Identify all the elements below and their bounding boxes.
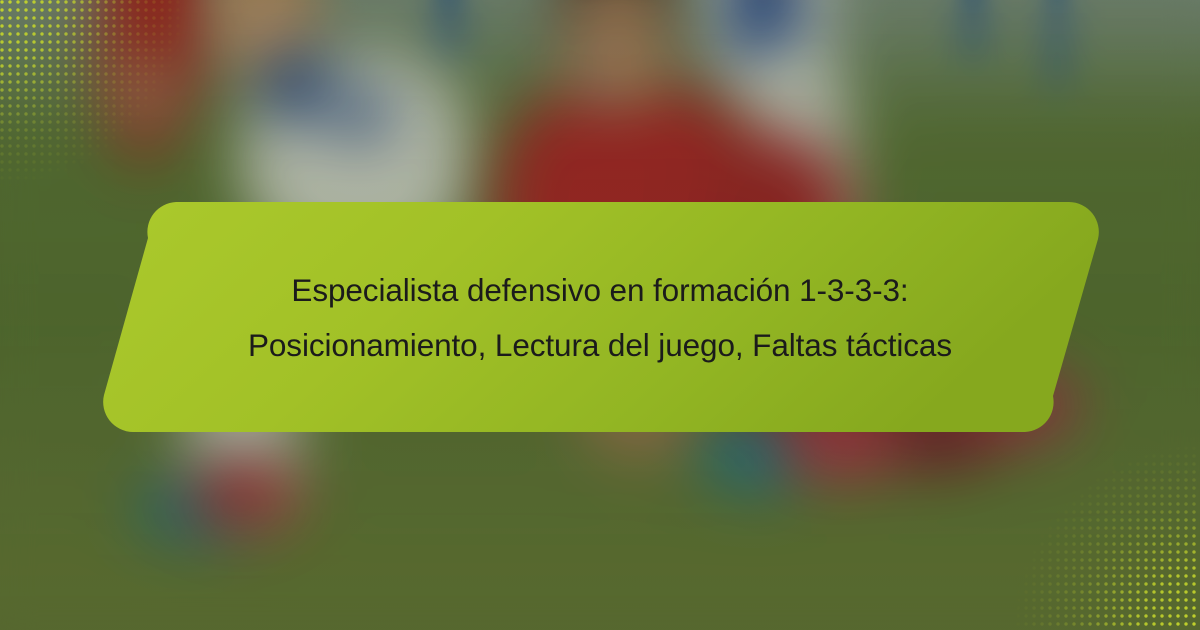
title-text-block: Especialista defensivo en formación 1-3-… [160,196,1040,440]
social-card-canvas: Especialista defensivo en formación 1-3-… [0,0,1200,630]
title-card: Especialista defensivo en formación 1-3-… [0,196,1200,440]
title-line-1: Especialista defensivo en formación 1-3-… [291,263,908,318]
title-line-2: Posicionamiento, Lectura del juego, Falt… [248,318,952,373]
